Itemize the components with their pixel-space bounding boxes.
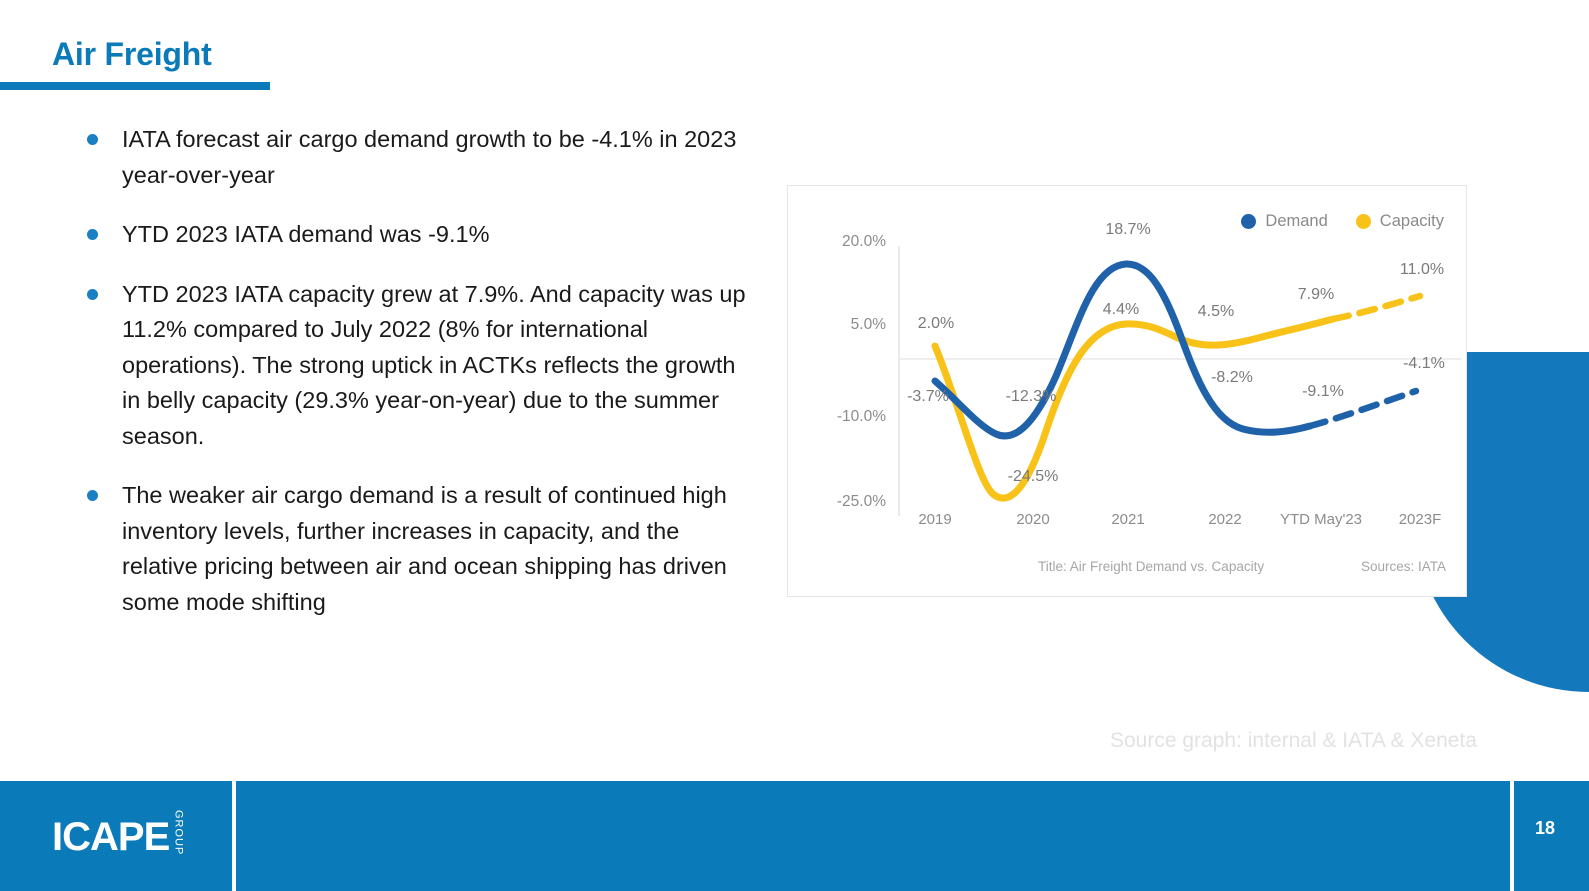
x-tick-label: 2023F — [1399, 511, 1442, 528]
y-tick-label: -10.0% — [837, 408, 886, 425]
x-tick-label: YTD May'23 — [1280, 511, 1362, 528]
chart-card: 20.0% 5.0% -10.0% -25.0% 2.0% -24.5% 4.4… — [787, 185, 1467, 597]
logo-wordmark: ICAPE — [52, 817, 169, 857]
bullet-dot-icon — [87, 289, 98, 300]
bullet-dot-icon — [87, 229, 98, 240]
y-tick-label: -25.0% — [837, 493, 886, 510]
capacity-data-label: 4.4% — [1103, 301, 1139, 318]
bullet-text: IATA forecast air cargo demand growth to… — [122, 122, 750, 193]
demand-line-solid — [935, 264, 1310, 436]
footer-right-block — [236, 781, 1510, 891]
slide: Air Freight IATA forecast air cargo dema… — [0, 0, 1589, 891]
chart-legend: Demand Capacity — [1241, 212, 1444, 231]
bullet-text: YTD 2023 IATA demand was -9.1% — [122, 217, 750, 253]
demand-data-label: -12.3% — [1006, 388, 1057, 405]
page-title: Air Freight — [52, 36, 212, 73]
icape-logo: ICAPE GROUP — [52, 810, 183, 857]
legend-label: Demand — [1265, 212, 1327, 231]
chart-sources-caption: Sources: IATA — [1361, 559, 1446, 574]
capacity-data-label: 4.5% — [1198, 303, 1234, 320]
page-number: 18 — [1535, 818, 1555, 839]
legend-item-demand: Demand — [1241, 212, 1327, 231]
air-freight-line-chart: 20.0% 5.0% -10.0% -25.0% 2.0% -24.5% 4.4… — [788, 186, 1468, 598]
x-tick-label: 2021 — [1111, 511, 1144, 528]
list-item: The weaker air cargo demand is a result … — [78, 478, 750, 620]
capacity-line-forecast-dashed — [1333, 296, 1420, 319]
x-tick-label: 2022 — [1208, 511, 1241, 528]
source-graph-note: Source graph: internal & IATA & Xeneta — [1110, 729, 1477, 753]
capacity-line-solid — [935, 319, 1333, 498]
demand-data-label: -3.7% — [907, 388, 949, 405]
list-item: YTD 2023 IATA capacity grew at 7.9%. And… — [78, 277, 750, 455]
capacity-data-label: 11.0% — [1400, 261, 1444, 278]
list-item: YTD 2023 IATA demand was -9.1% — [78, 217, 750, 253]
demand-data-label: -9.1% — [1302, 383, 1344, 400]
demand-data-label: -8.2% — [1211, 369, 1253, 386]
logo-subtext: GROUP — [172, 810, 183, 855]
bullet-text: The weaker air cargo demand is a result … — [122, 478, 750, 620]
capacity-data-label: -24.5% — [1008, 468, 1059, 485]
capacity-data-label: 7.9% — [1298, 286, 1334, 303]
legend-dot-icon — [1241, 214, 1256, 229]
demand-data-label: 18.7% — [1105, 221, 1150, 238]
legend-label: Capacity — [1380, 212, 1444, 231]
legend-dot-icon — [1356, 214, 1371, 229]
list-item: IATA forecast air cargo demand growth to… — [78, 122, 750, 193]
y-tick-label: 20.0% — [842, 233, 886, 250]
bullet-dot-icon — [87, 134, 98, 145]
bullet-text: YTD 2023 IATA capacity grew at 7.9%. And… — [122, 277, 750, 455]
y-tick-label: 5.0% — [851, 316, 887, 333]
x-tick-label: 2019 — [918, 511, 951, 528]
bullet-list: IATA forecast air cargo demand growth to… — [78, 122, 750, 644]
demand-data-label: -4.1% — [1403, 355, 1445, 372]
x-tick-label: 2020 — [1016, 511, 1049, 528]
title-underline-rule — [0, 82, 270, 90]
chart-title-caption: Title: Air Freight Demand vs. Capacity — [1038, 559, 1264, 574]
capacity-data-label: 2.0% — [918, 315, 954, 332]
bullet-dot-icon — [87, 490, 98, 501]
legend-item-capacity: Capacity — [1356, 212, 1444, 231]
